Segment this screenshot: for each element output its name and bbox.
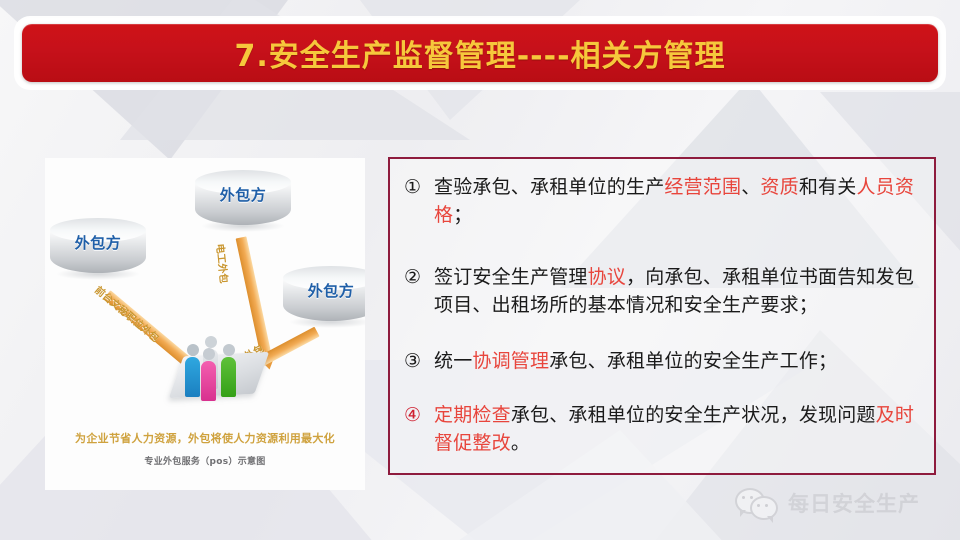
plain-phrase: 承包、承租单位的安全生产状况，发现问题	[511, 404, 876, 426]
bubble-dot	[750, 496, 753, 499]
requirement-marker: ①	[404, 173, 434, 201]
diagram-caption: 为企业节省人力资源，外包将使人力资源利用最大化	[45, 430, 365, 446]
requirement-item: ④定期检查承包、承租单位的安全生产状况，发现问题及时督促整改。	[404, 401, 918, 457]
highlighted-phrase: 经营范围	[664, 176, 741, 198]
person-head	[203, 348, 215, 360]
plain-phrase: ；	[453, 204, 472, 226]
requirement-item: ②签订安全生产管理协议，向承包、承租单位书面告知发包项目、出租场所的基本情况和安…	[404, 263, 918, 319]
requirement-marker: ②	[404, 263, 434, 291]
plain-phrase: 、	[741, 176, 760, 198]
person-torso	[185, 357, 200, 397]
plain-phrase: 查验承包、承租单位的生产	[434, 176, 664, 198]
requirement-text: 统一协调管理承包、承租单位的安全生产工作；	[434, 347, 918, 375]
requirement-item: ③统一协调管理承包、承租单位的安全生产工作；	[404, 347, 918, 375]
highlighted-phrase: 资质	[760, 176, 798, 198]
requirement-text: 定期检查承包、承租单位的安全生产状况，发现问题及时督促整改。	[434, 401, 918, 457]
person-figure	[185, 344, 200, 397]
requirement-marker: ③	[404, 347, 434, 375]
arrow-electrician	[236, 236, 272, 356]
requirement-text: 签订安全生产管理协议，向承包、承租单位书面告知发包项目、出租场所的基本情况和安全…	[434, 263, 918, 319]
node-outsourcing-party-right: 外包方	[283, 266, 365, 328]
wechat-icon	[735, 487, 779, 519]
person-figure	[221, 344, 236, 397]
highlighted-phrase: 定期检查	[434, 404, 511, 426]
page-title: 7.安全生产监督管理----相关方管理	[234, 31, 725, 75]
person-head	[223, 344, 235, 356]
requirements-list-box: ①查验承包、承租单位的生产经营范围、资质和有关人员资格；②签订安全生产管理协议，…	[388, 157, 936, 475]
person-torso	[221, 357, 236, 397]
bubble-dot	[765, 504, 768, 507]
plain-phrase: 承包、承租单位的安全生产工作；	[549, 350, 837, 372]
requirement-text: 查验承包、承租单位的生产经营范围、资质和有关人员资格；	[434, 173, 918, 229]
watermark-text: 每日安全生产	[788, 488, 920, 518]
person-head	[187, 344, 199, 356]
highlighted-phrase: 协议	[588, 266, 626, 288]
diagram-canvas: 前台文秘职位外包 电工外包 司机外包 外包方 外包方 外包方	[45, 158, 365, 490]
bubble-dot	[742, 496, 745, 499]
platform-pad	[169, 352, 269, 398]
highlighted-phrase: 协调管理	[472, 350, 549, 372]
node-label: 外包方	[50, 232, 146, 253]
person-torso	[201, 361, 216, 401]
person-figure	[201, 348, 216, 401]
title-banner-bar: 7.安全生产监督管理----相关方管理	[22, 24, 938, 82]
requirements-list: ①查验承包、承租单位的生产经营范围、资质和有关人员资格；②签订安全生产管理协议，…	[404, 173, 918, 457]
bubble-dot	[757, 504, 760, 507]
plain-phrase: 统一	[434, 350, 472, 372]
requirement-marker: ④	[404, 401, 434, 429]
node-outsourcing-party-left: 外包方	[50, 218, 146, 280]
title-banner: 7.安全生产监督管理----相关方管理	[16, 18, 944, 88]
diagram-subcaption: 专业外包服务（pos）示意图	[45, 454, 365, 467]
node-label: 外包方	[195, 184, 291, 205]
arrow-label-front-desk: 前台文秘职位外包	[92, 282, 163, 345]
node-label: 外包方	[283, 280, 365, 301]
plain-phrase: 和有关	[799, 176, 857, 198]
arrow-label-electrician: 电工外包	[214, 243, 233, 284]
person-head	[205, 336, 217, 348]
watermark: 每日安全生产	[735, 487, 920, 519]
outsourcing-diagram-panel: 前台文秘职位外包 电工外包 司机外包 外包方 外包方 外包方	[45, 158, 365, 490]
slide-root: 7.安全生产监督管理----相关方管理 前台文秘职位外包 电工外包 司机外包 外…	[0, 0, 960, 540]
plain-phrase: 。	[511, 432, 530, 454]
requirement-item: ①查验承包、承租单位的生产经营范围、资质和有关人员资格；	[404, 173, 918, 229]
node-outsourcing-party-top: 外包方	[195, 170, 291, 232]
speech-bubble-small	[750, 496, 778, 520]
plain-phrase: 签订安全生产管理	[434, 266, 588, 288]
